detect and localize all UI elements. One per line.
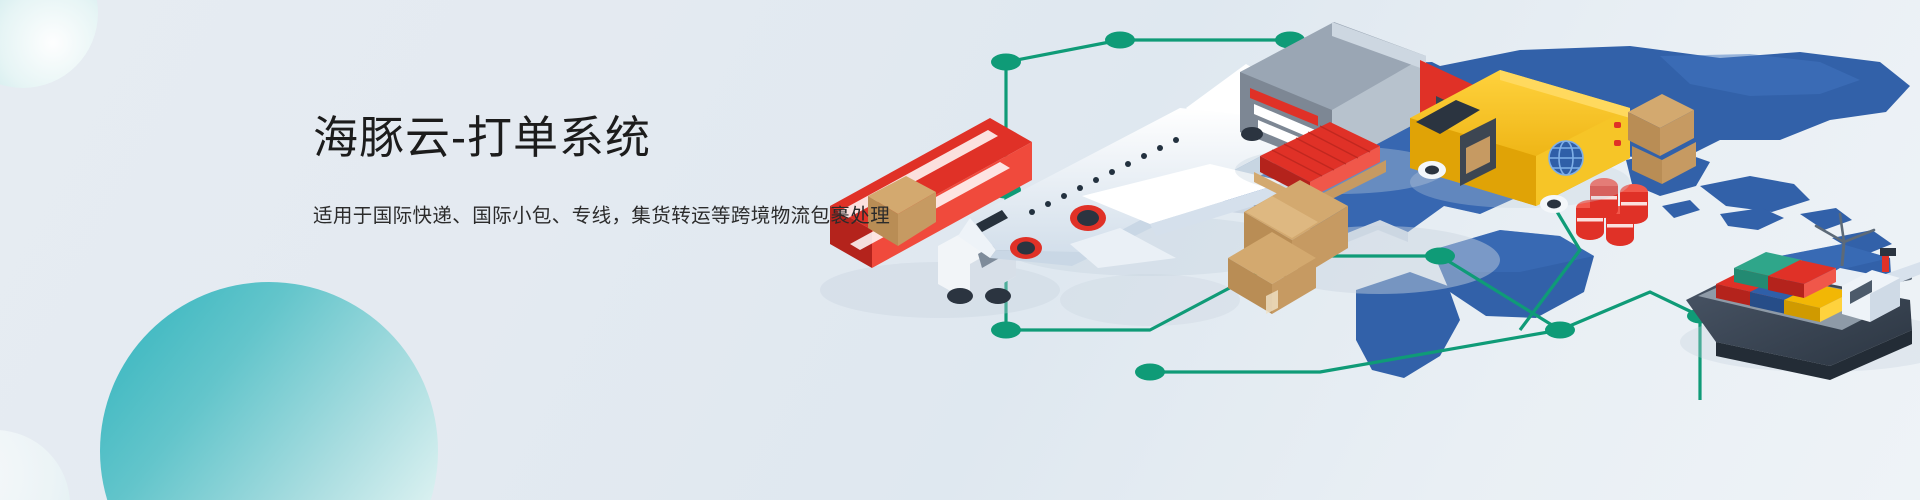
page-subtitle: 适用于国际快递、国际小包、专线，集货转运等跨境物流包裹处理 [313,202,890,231]
cargo-ship [1680,248,1920,380]
logistics-illustration [820,0,1920,500]
hero-banner: 海豚云-打单系统 适用于国际快递、国际小包、专线，集货转运等跨境物流包裹处理 [0,0,1920,500]
hero-copy: 海豚云-打单系统 适用于国际快递、国际小包、专线，集货转运等跨境物流包裹处理 [313,108,890,231]
page-title: 海豚云-打单系统 [313,108,890,169]
decorative-circle-top-left [0,0,98,88]
decorative-circle-bottom-left-small [0,430,70,500]
decorative-circle-bottom-left [100,282,438,500]
